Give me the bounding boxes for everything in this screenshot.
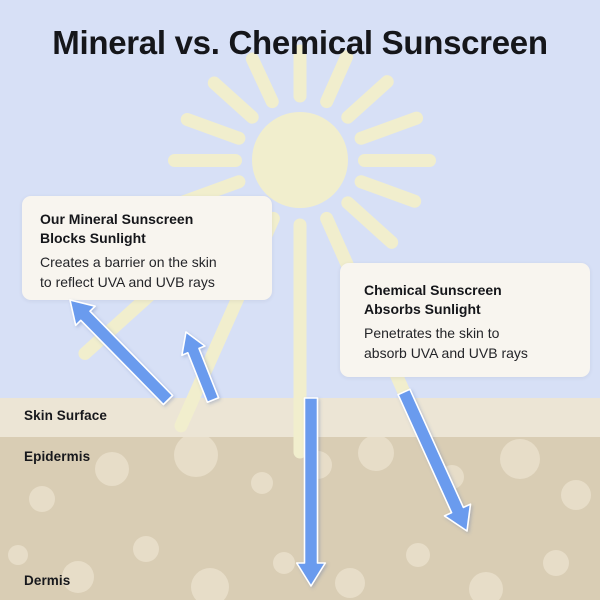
sun-ray <box>339 194 401 252</box>
skin-cell <box>251 472 273 494</box>
card-mineral-body-line2: to reflect UVA and UVB rays <box>40 272 256 292</box>
skin-cell <box>133 536 159 562</box>
sun-ray <box>294 218 307 458</box>
skin-cell <box>358 437 394 471</box>
skin-cell <box>29 486 55 512</box>
card-chemical-sunscreen: Chemical Sunscreen Absorbs Sunlight Pene… <box>340 263 590 377</box>
label-dermis: Dermis <box>24 573 70 588</box>
sun-ray <box>205 74 261 126</box>
card-chemical-heading-line2: Absorbs Sunlight <box>364 300 574 319</box>
sun-ray <box>179 111 247 146</box>
sun-ray <box>168 154 242 167</box>
sun-disc <box>252 112 348 208</box>
skin-cell <box>543 550 569 576</box>
skin-cell <box>95 452 129 486</box>
card-chemical-heading: Chemical Sunscreen Absorbs Sunlight <box>364 281 574 319</box>
sun-ray <box>352 174 422 210</box>
infographic-canvas: Mineral vs. Chemical Sunscreen Skin Surf… <box>0 0 600 600</box>
skin-cell <box>191 568 229 600</box>
card-mineral-body-line1: Creates a barrier on the skin <box>40 252 256 272</box>
label-epidermis: Epidermis <box>24 449 90 464</box>
skin-cell <box>335 568 365 598</box>
skin-cell <box>561 480 591 510</box>
skin-cell <box>440 465 464 489</box>
skin-cell <box>304 451 332 479</box>
sun-ray <box>352 109 424 146</box>
card-mineral-heading: Our Mineral Sunscreen Blocks Sunlight <box>40 210 256 248</box>
card-mineral-body: Creates a barrier on the skin to reflect… <box>40 252 256 293</box>
skin-cell <box>469 572 503 600</box>
card-chemical-body-line2: absorb UVA and UVB rays <box>364 343 574 363</box>
skin-cell <box>8 545 28 565</box>
sun-ray <box>339 72 397 126</box>
skin-cell <box>406 543 430 567</box>
card-chemical-body: Penetrates the skin to absorb UVA and UV… <box>364 323 574 364</box>
page-title: Mineral vs. Chemical Sunscreen <box>0 22 600 64</box>
card-chemical-heading-line1: Chemical Sunscreen <box>364 281 574 300</box>
skin-cell <box>273 552 295 574</box>
label-skin-surface: Skin Surface <box>24 408 107 423</box>
card-chemical-body-line1: Penetrates the skin to <box>364 323 574 343</box>
skin-cell <box>500 439 540 479</box>
sun-ray <box>358 154 436 167</box>
skin-cell <box>174 437 218 477</box>
card-mineral-heading-line2: Blocks Sunlight <box>40 229 256 248</box>
card-mineral-heading-line1: Our Mineral Sunscreen <box>40 210 256 229</box>
card-mineral-sunscreen: Our Mineral Sunscreen Blocks Sunlight Cr… <box>22 196 272 300</box>
